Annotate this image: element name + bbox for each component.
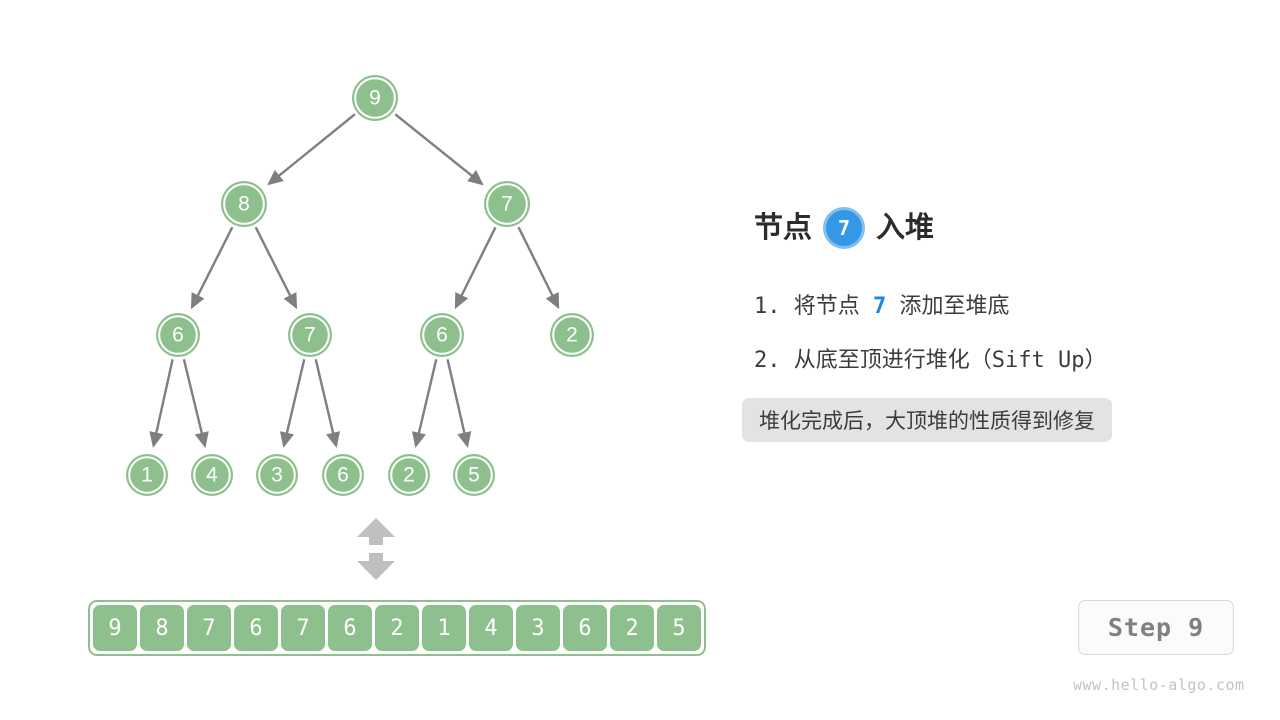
tree-edge <box>153 359 172 445</box>
tree-node-label: 8 <box>238 193 250 216</box>
array-cell: 6 <box>328 605 372 651</box>
title-suffix: 入堆 <box>876 214 934 243</box>
step1-value: 7 <box>873 294 886 319</box>
tree-node-label: 4 <box>206 464 218 487</box>
tree-node: 7 <box>288 313 332 357</box>
tree-node: 1 <box>126 454 168 496</box>
array-cell: 2 <box>375 605 419 651</box>
array-cell: 7 <box>281 605 325 651</box>
tree-node-label: 9 <box>369 87 381 110</box>
tree-node-label: 6 <box>172 324 184 347</box>
diagram-panel: 9876762143625 9876762143625 <box>0 0 730 720</box>
array-cell: 6 <box>563 605 607 651</box>
tree-node: 4 <box>191 454 233 496</box>
tree-edge <box>256 227 296 307</box>
tree-edge <box>395 114 482 184</box>
title-node-badge: 7 <box>826 210 862 246</box>
instruction-step-2: 2. 从底至顶进行堆化（Sift Up） <box>754 342 1106 374</box>
tree-node-label: 6 <box>436 324 448 347</box>
tree-edge <box>416 359 436 445</box>
tree-node: 5 <box>453 454 495 496</box>
array-cell: 3 <box>516 605 560 651</box>
tree-node: 2 <box>550 313 594 357</box>
tree-node-label: 2 <box>566 324 578 347</box>
tree-node: 3 <box>256 454 298 496</box>
step-badge: Step 9 <box>1078 600 1234 655</box>
array-cell: 7 <box>187 605 231 651</box>
tree-node: 6 <box>322 454 364 496</box>
footer-url: www.hello-algo.com <box>1073 676 1245 694</box>
tree-node-label: 2 <box>403 464 415 487</box>
tree-node-label: 3 <box>271 464 283 487</box>
tree-node-label: 7 <box>304 324 316 347</box>
double-arrow-vertical-icon <box>357 518 395 580</box>
step1-suffix: 添加至堆底 <box>900 294 1010 319</box>
tree-edge <box>456 227 496 307</box>
step1-prefix: 1. 将节点 <box>754 294 860 319</box>
tree-node: 6 <box>420 313 464 357</box>
array-cell: 5 <box>657 605 701 651</box>
array-cell: 6 <box>234 605 278 651</box>
result-note: 堆化完成后，大顶堆的性质得到修复 <box>742 398 1112 442</box>
page-title: 节点 7 入堆 <box>754 210 934 246</box>
tree-node-label: 6 <box>337 464 349 487</box>
tree-node: 2 <box>388 454 430 496</box>
array-cell: 8 <box>140 605 184 651</box>
tree-edge <box>284 359 304 445</box>
tree-edge <box>519 227 559 307</box>
title-prefix: 节点 <box>754 214 812 243</box>
tree-nodes: 9876762143625 <box>126 75 594 496</box>
tree-node: 7 <box>484 181 530 227</box>
array-cell: 1 <box>422 605 466 651</box>
tree-node: 9 <box>352 75 398 121</box>
tree-edges <box>153 114 558 446</box>
tree-edge <box>269 114 355 184</box>
tree-node-label: 5 <box>468 464 480 487</box>
tree-edge <box>448 359 468 445</box>
array-cell: 9 <box>93 605 137 651</box>
array-representation: 9876762143625 <box>88 600 706 656</box>
tree-edge <box>316 359 336 445</box>
array-cell: 2 <box>610 605 654 651</box>
tree-node-label: 1 <box>141 464 153 487</box>
array-cell: 4 <box>469 605 513 651</box>
tree-node-label: 7 <box>501 193 513 216</box>
tree-edge <box>192 227 232 307</box>
tree-node: 8 <box>221 181 267 227</box>
tree-node: 6 <box>156 313 200 357</box>
tree-edge <box>184 359 205 446</box>
instruction-step-1: 1. 将节点 7 添加至堆底 <box>754 288 1010 320</box>
